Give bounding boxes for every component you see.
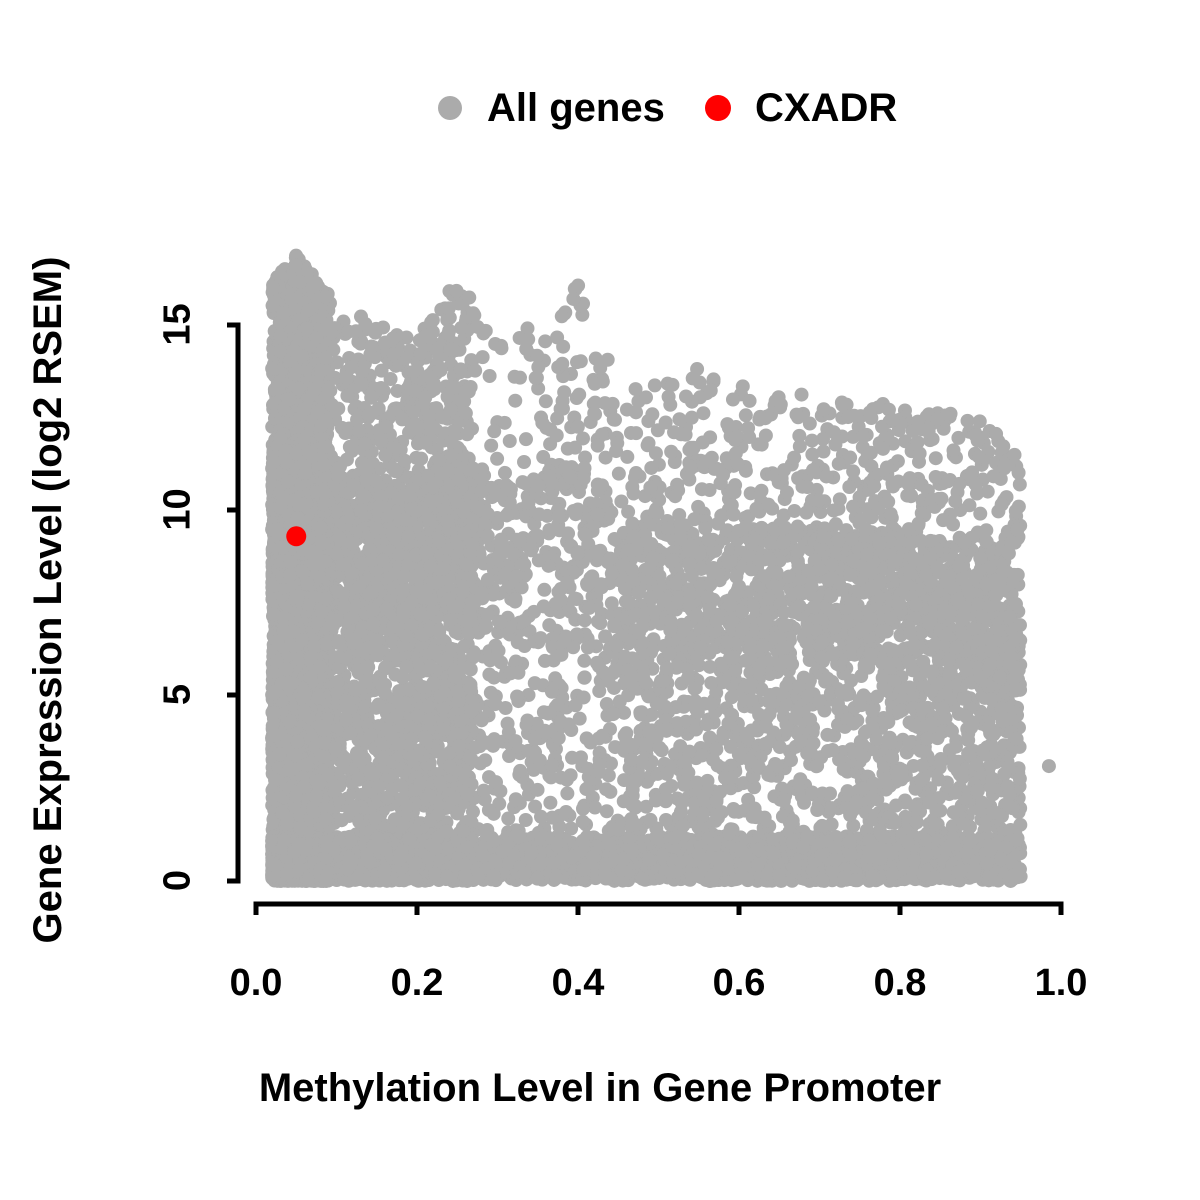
data-point-all-genes [695, 482, 709, 496]
data-point-all-genes [629, 426, 643, 440]
data-point-all-genes [614, 494, 628, 508]
data-point-all-genes [560, 773, 574, 787]
data-point-all-genes [739, 408, 753, 422]
data-point-all-genes [542, 618, 556, 632]
data-point-all-genes [612, 467, 626, 481]
data-point-all-genes [490, 452, 504, 466]
data-point-all-genes [726, 393, 740, 407]
data-point-all-genes [508, 394, 522, 408]
data-points-layer [265, 249, 1056, 888]
scatter-plot-figure: All genes CXADR 0.0 0.2 0.4 0.6 0.8 1.0 … [0, 0, 1200, 1200]
data-point-all-genes [484, 439, 498, 453]
plot-canvas [0, 0, 1200, 1200]
data-point-all-genes [995, 497, 1009, 511]
data-point-all-genes [503, 434, 517, 448]
